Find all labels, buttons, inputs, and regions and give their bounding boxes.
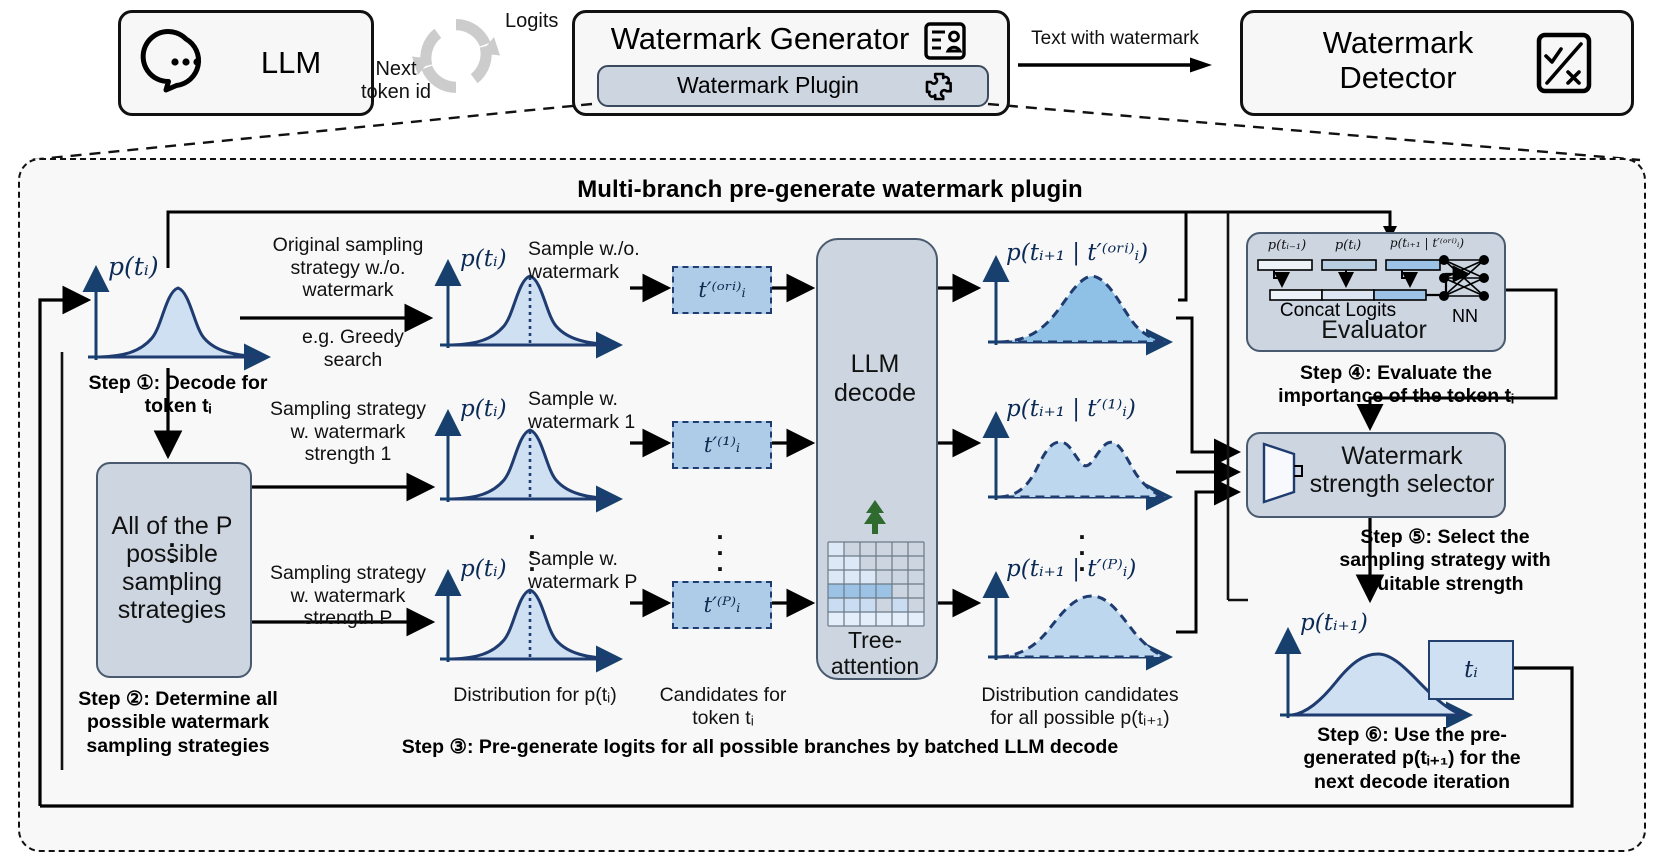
watermark-detector-label: Watermark Detector bbox=[1273, 25, 1523, 105]
next-token-label: tᵢ bbox=[1464, 657, 1478, 683]
step5-text: Step ⑤: Select the sampling strategy wit… bbox=[1300, 526, 1590, 596]
step4-text: Step ④: Evaluate the importance of the t… bbox=[1246, 362, 1546, 409]
chat-bubble-icon bbox=[155, 33, 217, 95]
step1-dist-label: p(tᵢ) bbox=[108, 252, 218, 281]
puzzle-piece-icon bbox=[921, 71, 953, 101]
next-dist-label-3: p(tᵢ₊₁ | t′⁽ᴾ⁾ᵢ) bbox=[1006, 556, 1196, 582]
ellipsis-strategies: ... bbox=[152, 530, 192, 578]
step2-text: Step ②: Determine all possible watermark… bbox=[58, 688, 298, 758]
watermark-strength-selector-label: Watermark strength selector bbox=[1306, 442, 1498, 498]
token-candidate-p-label: t′⁽ᴾ⁾ᵢ bbox=[704, 593, 741, 617]
branch-note-strength-p: Sampling strategy w. watermark strength … bbox=[248, 562, 448, 630]
ellipsis-mid-dists: ... bbox=[512, 522, 552, 570]
arrow-generator-to-detector bbox=[1016, 56, 1216, 76]
step6-dist-label: p(tᵢ₊₁) bbox=[1300, 610, 1420, 636]
mid-dist-label-1: p(tᵢ) bbox=[460, 246, 560, 272]
branch-note-greedy: e.g. Greedy search bbox=[268, 326, 438, 371]
token-candidate-1[interactable]: t′⁽¹⁾ᵢ bbox=[672, 421, 772, 469]
branch-note-strength-1: Sampling strategy w. watermark strength … bbox=[248, 398, 448, 466]
caption-dist-for-pti: Distribution for p(tᵢ) bbox=[420, 684, 650, 707]
step6-text: Step ⑥: Use the pre- generated p(tᵢ₊₁) f… bbox=[1252, 724, 1572, 794]
checkmark-cross-document-icon bbox=[1535, 31, 1593, 95]
watermark-plugin-label: Watermark Plugin bbox=[623, 67, 913, 103]
watermark-detector-box: Watermark Detector bbox=[1240, 10, 1634, 116]
document-user-icon bbox=[923, 21, 967, 61]
text-with-watermark-label: Text with watermark bbox=[1020, 28, 1210, 52]
watermark-generator-label: Watermark Generator bbox=[605, 17, 915, 61]
ellipsis-tokens: ... bbox=[700, 522, 740, 570]
watermark-plugin-box[interactable]: Watermark Plugin bbox=[597, 65, 989, 107]
evaluator-logit-label-1: p(tᵢ₋₁) bbox=[1254, 238, 1320, 253]
token-candidate-ori[interactable]: t′⁽ᵒʳⁱ⁾ᵢ bbox=[672, 266, 772, 314]
llm-label: LLM bbox=[231, 13, 351, 113]
token-candidate-p[interactable]: t′⁽ᴾ⁾ᵢ bbox=[672, 581, 772, 629]
next-dist-label-1: p(tᵢ₊₁ | t′⁽ᵒʳⁱ⁾ᵢ) bbox=[1006, 240, 1196, 266]
evaluator-logit-label-3: p(tᵢ₊₁ | t′⁽ᵒʳⁱ⁾ᵢ) bbox=[1372, 236, 1482, 250]
mid-dist-label-2: p(tᵢ) bbox=[460, 396, 560, 422]
evergreen-tree-icon bbox=[856, 498, 894, 538]
tree-attention-grid bbox=[828, 542, 924, 626]
panel-title: Multi-branch pre-generate watermark plug… bbox=[418, 176, 1242, 208]
evaluator-logit-label-2: p(tᵢ) bbox=[1322, 238, 1374, 253]
next-token-box[interactable]: tᵢ bbox=[1428, 640, 1514, 700]
nn-icon bbox=[1434, 252, 1496, 308]
next-dist-label-2: p(tᵢ₊₁ | t′⁽¹⁾ᵢ) bbox=[1006, 396, 1196, 422]
watermark-generator-box: Watermark Generator Watermark Plugin bbox=[572, 10, 1010, 116]
caption-dist-candidates: Distribution candidates for all possible… bbox=[962, 684, 1198, 730]
multiplexer-icon bbox=[1256, 440, 1306, 506]
tree-attention-label: Tree- attention bbox=[818, 628, 932, 680]
llm-decode-label: LLM decode bbox=[818, 350, 932, 408]
step3-text: Step ③: Pre-generate logits for all poss… bbox=[310, 736, 1210, 759]
token-candidate-1-label: t′⁽¹⁾ᵢ bbox=[704, 433, 740, 457]
branch-note-original: Original sampling strategy w./o. waterma… bbox=[248, 234, 448, 302]
evaluator-title: Evaluator bbox=[1252, 316, 1496, 344]
caption-candidates-for-token: Candidates for token tᵢ bbox=[638, 684, 808, 730]
token-candidate-ori-label: t′⁽ᵒʳⁱ⁾ᵢ bbox=[698, 278, 745, 302]
next-token-id-label: Next token id bbox=[336, 58, 456, 110]
